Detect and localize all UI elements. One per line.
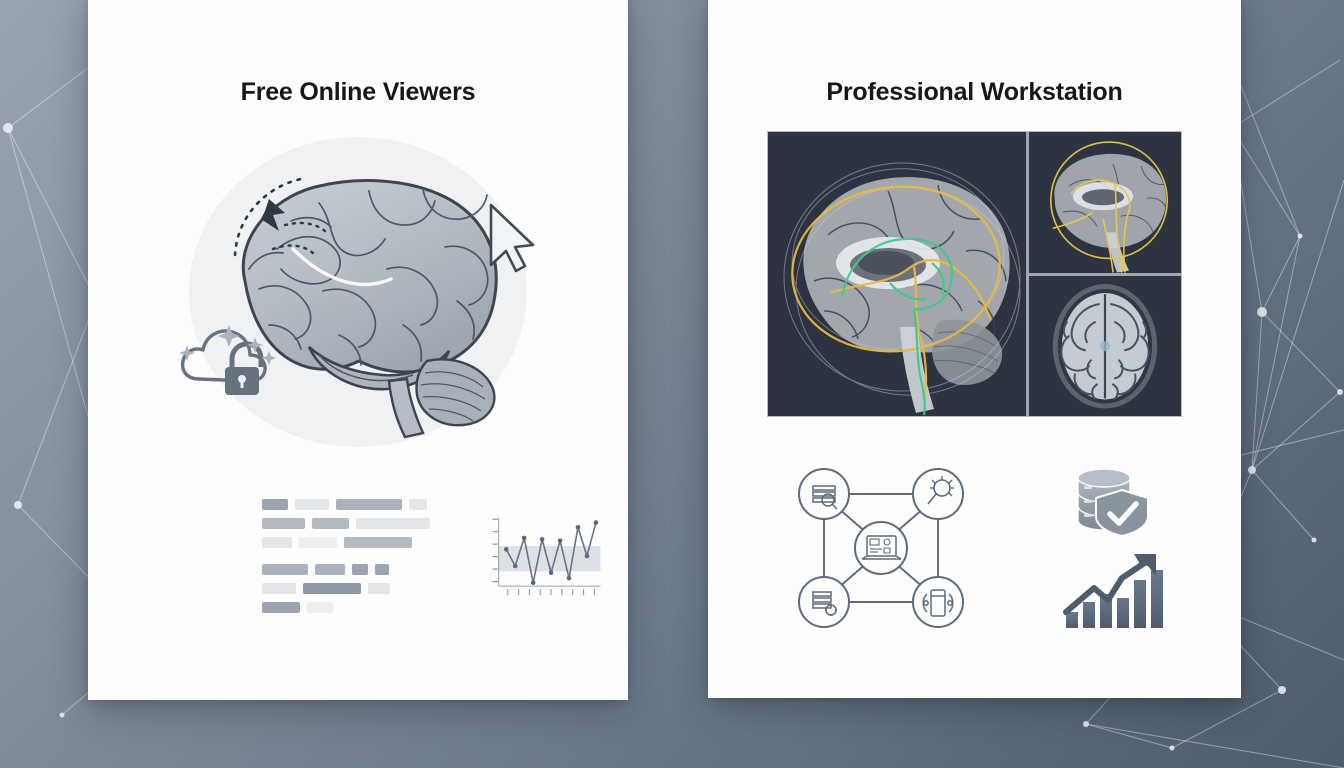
chart-point <box>513 564 518 569</box>
chart-point <box>567 576 572 581</box>
card-professional-workstation[interactable]: Professional Workstation <box>708 0 1241 698</box>
chart-point <box>576 525 581 530</box>
skeleton-row <box>262 537 430 548</box>
page-title-right: Professional Workstation <box>708 78 1241 107</box>
skeleton-row <box>262 499 430 510</box>
skeleton-bar <box>262 518 305 529</box>
skeleton-bar <box>352 564 368 575</box>
chart-point <box>558 538 563 543</box>
brain-lateral-svg <box>173 129 543 454</box>
skeleton-bar <box>315 564 345 575</box>
chart-point <box>531 580 536 585</box>
security-and-growth-icons <box>1060 462 1164 630</box>
skeleton-bar <box>262 602 300 613</box>
skeleton-bar <box>262 564 308 575</box>
placeholder-text-block <box>262 499 430 621</box>
hero-brain-illustration <box>173 129 543 454</box>
skeleton-bar <box>336 499 402 510</box>
left-bottom-row <box>88 499 628 621</box>
skeleton-bar <box>262 537 292 548</box>
skeleton-row <box>262 564 430 575</box>
database-shield-check-icon[interactable] <box>1064 462 1160 538</box>
pipeline-network-diagram[interactable] <box>786 462 976 634</box>
chart-point <box>504 547 509 552</box>
skeleton-bar <box>356 518 430 529</box>
chart-point <box>585 554 590 559</box>
skeleton-bar <box>262 499 288 510</box>
skeleton-bar <box>299 537 337 548</box>
skeleton-row <box>262 583 430 594</box>
chart-point <box>549 570 554 575</box>
viewport-sagittal-tractography[interactable] <box>768 132 1026 416</box>
skeleton-bar <box>375 564 389 575</box>
viewport-axial-slice[interactable] <box>1029 276 1181 417</box>
chart-point <box>540 537 545 542</box>
skeleton-bar <box>409 499 427 510</box>
skeleton-row <box>262 518 430 529</box>
skeleton-bar <box>344 537 412 548</box>
chart-point <box>594 520 599 525</box>
skeleton-row <box>262 602 430 613</box>
skeleton-bar <box>307 602 333 613</box>
growth-bar-chart-icon[interactable] <box>1060 550 1164 630</box>
workstation-icon-row <box>708 462 1241 634</box>
chart-point <box>522 536 527 541</box>
skeleton-bar <box>295 499 329 510</box>
page-title-left: Free Online Viewers <box>88 78 628 107</box>
viewport-sagittal-midline[interactable] <box>1029 132 1181 273</box>
mini-trend-chart <box>488 499 602 617</box>
card-free-online-viewers[interactable]: Free Online Viewers <box>88 0 628 700</box>
skeleton-bar <box>303 583 361 594</box>
skeleton-bar <box>262 583 296 594</box>
skeleton-bar <box>312 518 349 529</box>
lock-icon <box>225 344 261 395</box>
cursor-arrow-icon <box>491 205 533 271</box>
skeleton-bar <box>368 583 390 594</box>
dicom-viewport-grid[interactable] <box>767 131 1182 417</box>
